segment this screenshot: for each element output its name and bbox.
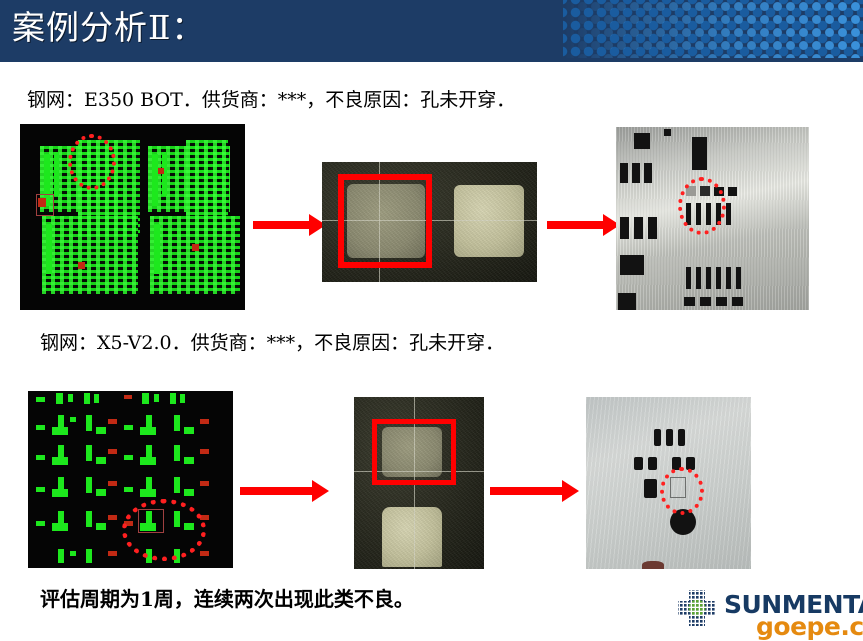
page-title: 案例分析Ⅱ： <box>12 6 205 50</box>
row2-spi-inspection-image <box>28 391 233 568</box>
header-pattern-layer-front <box>563 0 863 62</box>
caption-stencil-e350: 钢网：E350 BOT．供货商：***，不良原因：孔未开穿． <box>27 85 515 112</box>
header-dot-pattern <box>563 0 863 62</box>
header-bottom-rule <box>0 58 863 62</box>
row2-microscope-defect-box <box>372 419 456 485</box>
caption-evaluation-period: 评估周期为1周，连续两次出现此类不良。 <box>40 583 414 612</box>
brand-logo: SUNMENTA goepe.com <box>676 586 862 634</box>
row1-microscope-defect-box <box>338 174 432 268</box>
row1-spi-defect-marker <box>68 134 116 190</box>
row2-stencil-aperture-photo <box>586 397 751 569</box>
slide-header: 案例分析Ⅱ： <box>0 0 863 62</box>
row1-stencil-aperture-photo <box>616 127 809 310</box>
sunmenta-cross-icon <box>676 588 718 628</box>
site-watermark: goepe.com <box>756 612 863 641</box>
row1-stencil-defect-marker <box>678 177 726 235</box>
row1-solder-paste-microscope-image <box>322 162 537 282</box>
row1-spi-inspection-image <box>20 124 245 310</box>
row2-solder-paste-microscope-image <box>354 397 484 569</box>
row2-spi-defect-marker <box>122 499 206 561</box>
caption-stencil-x5v20: 钢网：X5-V2.0．供货商：***，不良原因：孔未开穿． <box>40 328 504 355</box>
row2-stencil-defect-marker <box>660 467 704 515</box>
